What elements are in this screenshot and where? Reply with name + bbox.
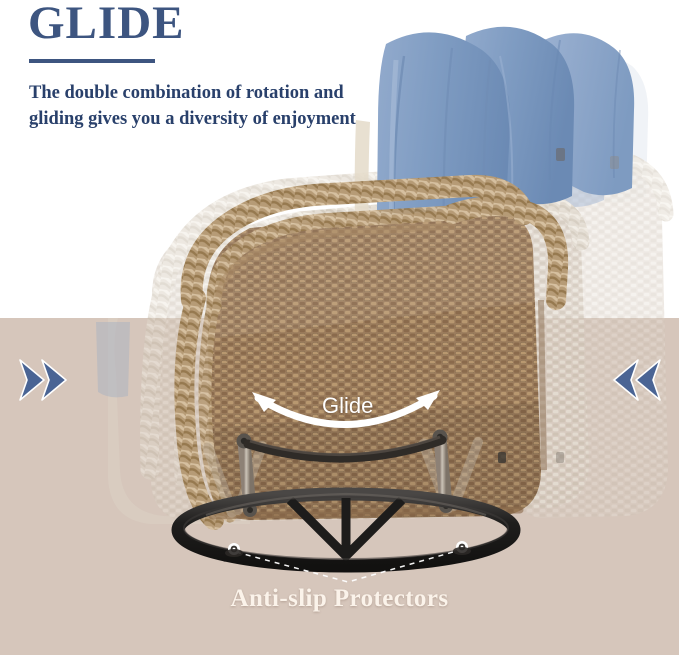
double-chevron-right-icon <box>14 352 72 408</box>
subtitle-line-2: gliding gives you a diversity of enjoyme… <box>29 106 429 132</box>
frame-fastener <box>556 452 564 463</box>
subtitle: The double combination of rotation and g… <box>29 80 429 133</box>
frame-fastener <box>556 148 565 161</box>
subtitle-line-1: The double combination of rotation and <box>29 80 429 106</box>
product-feature-image: GLIDE The double combination of rotation… <box>0 0 679 655</box>
page-title: GLIDE <box>28 0 185 50</box>
title-divider <box>29 59 155 63</box>
chair-wicker-body <box>184 186 558 535</box>
glide-annotation-label: Glide <box>322 393 373 419</box>
frame-fastener <box>498 452 506 463</box>
double-chevron-left-icon <box>608 352 666 408</box>
antislip-annotation-label: Anti-slip Protectors <box>0 585 679 613</box>
frame-fastener <box>610 156 619 169</box>
